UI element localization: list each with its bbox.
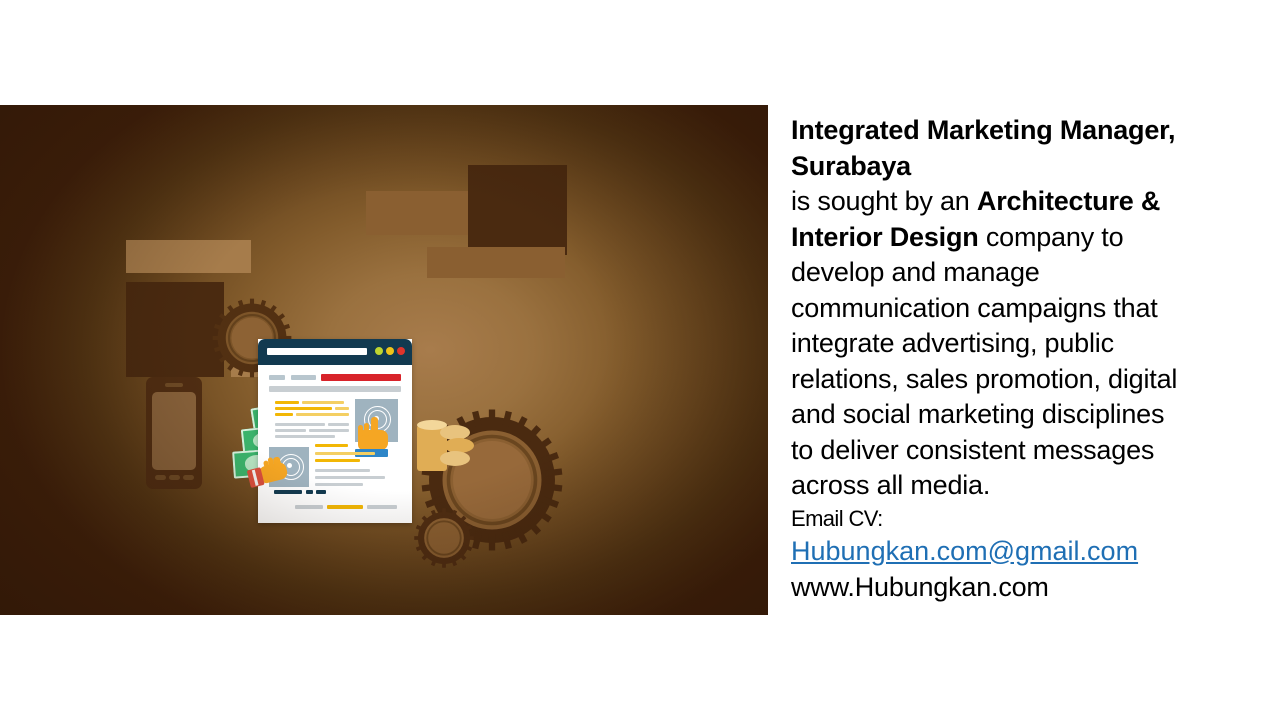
body-line-1: is sought by an Architecture & (791, 184, 1261, 220)
page-title-line2: Surabaya (791, 149, 1261, 185)
slide-canvas: Integrated Marketing Manager, Surabaya i… (0, 0, 1280, 720)
background-vignette (0, 105, 768, 615)
body-line-2: Interior Design company to (791, 220, 1261, 256)
body-line-4: communication campaigns that (791, 291, 1261, 327)
body-text-bold: Interior Design (791, 222, 979, 252)
body-line-9: across all media. (791, 468, 1261, 504)
body-line-3: develop and manage (791, 255, 1261, 291)
email-address-link[interactable]: Hubungkan.com@gmail.com (791, 534, 1138, 570)
job-advert-text: Integrated Marketing Manager, Surabaya i… (791, 113, 1261, 605)
body-line-5: integrate advertising, public (791, 326, 1261, 362)
body-text: company to (979, 222, 1124, 252)
body-text-bold: Architecture & (977, 186, 1160, 216)
body-line-8: to deliver consistent messages (791, 433, 1261, 469)
email-link-row: Hubungkan.com@gmail.com (791, 534, 1261, 570)
job-advert-illustration (0, 105, 768, 615)
body-line-6: relations, sales promotion, digital (791, 362, 1261, 398)
page-title: Integrated Marketing Manager, (791, 113, 1261, 149)
body-text: is sought by an (791, 186, 977, 216)
website-url: www.Hubungkan.com (791, 569, 1261, 605)
body-line-7: and social marketing disciplines (791, 397, 1261, 433)
email-label: Email CV: (791, 504, 1261, 534)
